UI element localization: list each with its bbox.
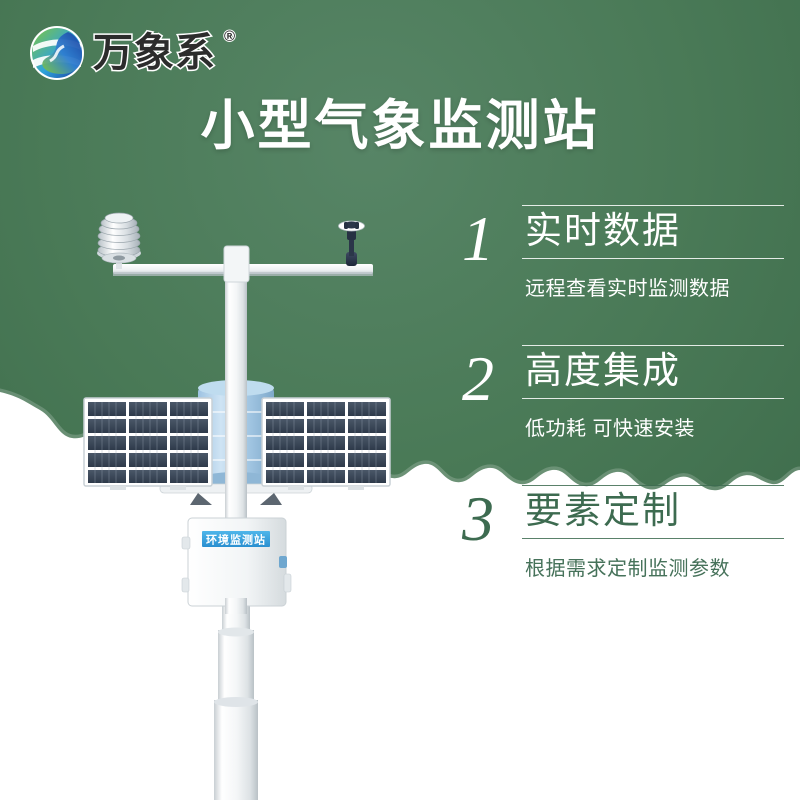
controller-cabinet: 环境监测站	[182, 518, 291, 614]
feature-rule-top-1	[522, 205, 784, 206]
feature-rule-bottom-3	[522, 538, 784, 539]
feature-title-3: 要素定制	[522, 486, 784, 538]
feature-item-1: 1 实时数据 远程查看实时监测数据	[462, 205, 792, 345]
solar-panel-left	[84, 398, 212, 490]
feature-rule-top-2	[522, 345, 784, 346]
cabinet-label-text: 环境监测站	[206, 533, 266, 547]
feature-number-3: 3	[462, 487, 494, 551]
sensor-crossarm	[113, 246, 373, 282]
feature-list: 1 实时数据 远程查看实时监测数据 2 高度集成 低功耗 可快速安装 3 要素定…	[462, 205, 792, 625]
feature-item-2: 2 高度集成 低功耗 可快速安装	[462, 345, 792, 485]
radiation-shield-sensor	[97, 213, 141, 269]
product-poster: 万象系 ® 小型气象监测站	[0, 0, 800, 800]
feature-number-2: 2	[462, 347, 494, 411]
feature-subtitle-1: 远程查看实时监测数据	[522, 272, 784, 301]
feature-item-3: 3 要素定制 根据需求定制监测参数	[462, 485, 792, 625]
feature-title-1: 实时数据	[522, 206, 784, 258]
feature-rule-bottom-1	[522, 258, 784, 259]
feature-rule-bottom-2	[522, 398, 784, 399]
feature-number-1: 1	[462, 207, 494, 271]
solar-panel-right	[262, 398, 390, 490]
feature-subtitle-2: 低功耗 可快速安装	[522, 412, 784, 441]
product-image: 环境监测站	[0, 0, 480, 800]
feature-rule-top-3	[522, 485, 784, 486]
feature-title-2: 高度集成	[522, 346, 784, 398]
feature-subtitle-3: 根据需求定制监测参数	[522, 552, 784, 581]
ultrasonic-anemometer-sensor	[339, 221, 365, 266]
